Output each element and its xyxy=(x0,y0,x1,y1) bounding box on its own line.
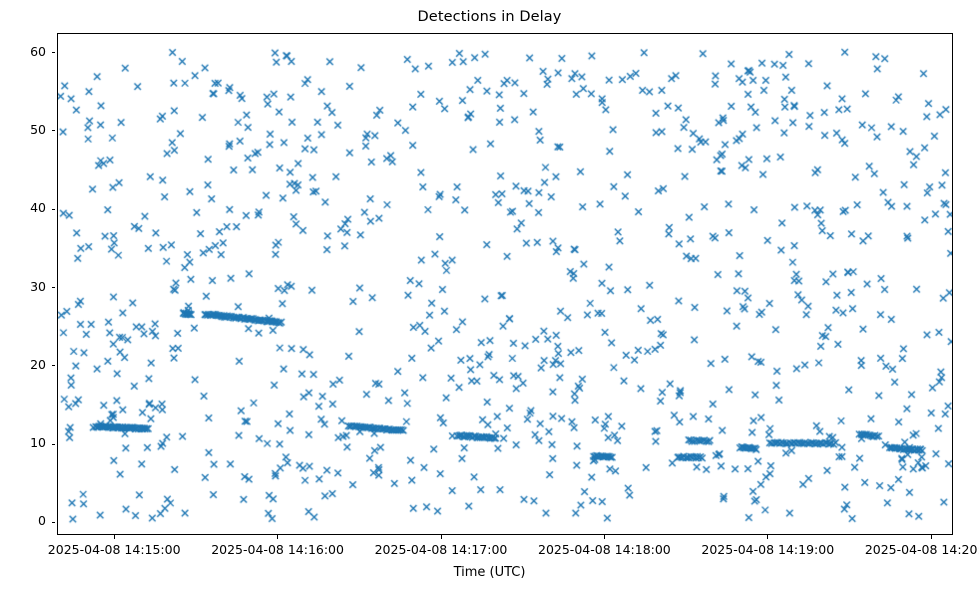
y-tick-mark xyxy=(52,522,56,523)
y-tick-mark xyxy=(52,130,56,131)
y-tick-mark xyxy=(52,52,56,53)
y-tick-mark xyxy=(52,209,56,210)
x-tick-mark xyxy=(277,535,278,539)
y-tick-mark xyxy=(52,287,56,288)
x-axis-label: Time (UTC) xyxy=(0,565,979,580)
chart-title: Detections in Delay xyxy=(0,9,979,25)
y-tick-label: 40 xyxy=(0,200,46,215)
x-tick-mark xyxy=(931,535,932,539)
y-tick-label: 20 xyxy=(0,357,46,372)
x-tick-label: 2025-04-08 14:20:00 xyxy=(831,542,979,557)
plot-axes-area xyxy=(57,33,953,535)
x-tick-mark xyxy=(114,535,115,539)
y-tick-label: 50 xyxy=(0,122,46,137)
y-tick-mark xyxy=(52,365,56,366)
matplotlib-figure: Detections in Delay 0102030405060 2025-0… xyxy=(0,0,979,590)
y-tick-label: 10 xyxy=(0,435,46,450)
x-tick-mark xyxy=(767,535,768,539)
y-tick-label: 60 xyxy=(0,44,46,59)
x-tick-mark xyxy=(441,535,442,539)
y-tick-mark xyxy=(52,444,56,445)
y-tick-label: 0 xyxy=(0,513,46,528)
y-tick-label: 30 xyxy=(0,279,46,294)
scatter-plot-canvas xyxy=(58,34,952,534)
x-tick-mark xyxy=(604,535,605,539)
